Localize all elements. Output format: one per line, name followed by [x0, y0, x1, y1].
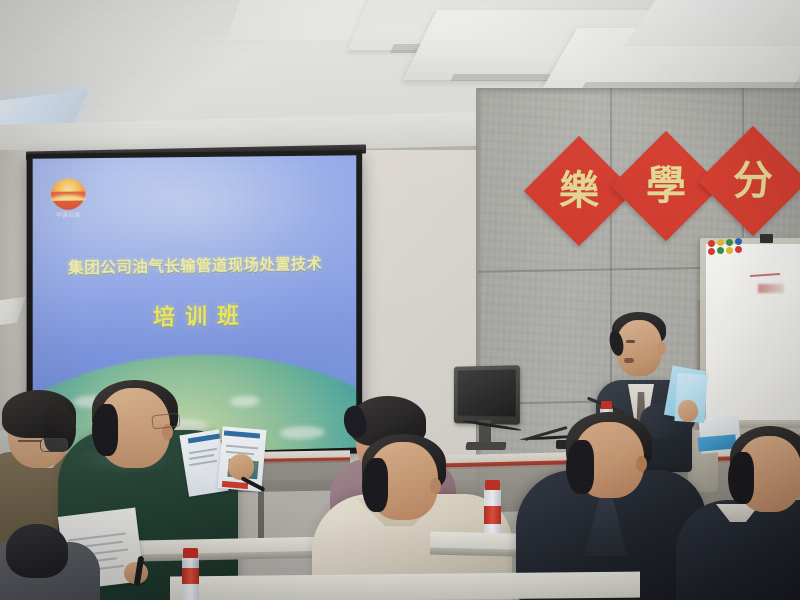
attendee-hair-side: [728, 452, 754, 504]
monitor-stand-base: [465, 442, 506, 450]
whiteboard-magnet: [726, 247, 733, 254]
whiteboard-magnet: [717, 247, 724, 254]
banner-character: 分: [714, 142, 792, 220]
wall-banner-diamond: 分: [698, 126, 800, 236]
water-bottle: [182, 556, 199, 600]
attendee-hand: [228, 454, 254, 480]
whiteboard-clip: [760, 234, 773, 243]
projected-slide: 中国石油 集团公司油气长输管道现场处置技术 培训班: [33, 155, 357, 456]
projection-screen: 中国石油 集团公司油气长输管道现场处置技术 培训班: [27, 150, 363, 462]
attendee-head: [6, 524, 68, 578]
screen-sheen: [33, 155, 357, 456]
whiteboard-magnet: [735, 246, 742, 253]
lcd-monitor: [454, 365, 520, 425]
desk-leg: [258, 486, 264, 538]
water-bottle: [484, 488, 501, 536]
attendee-hair-side: [362, 458, 388, 512]
banner-character: 學: [627, 147, 705, 225]
bottle-cap: [485, 480, 500, 490]
whiteboard-magnet: [726, 239, 733, 246]
whiteboard-magnet: [708, 240, 715, 247]
banner-character: 樂: [540, 152, 618, 230]
classroom-desk-foreground: [170, 572, 640, 600]
bottle-label: [484, 506, 501, 524]
eyeglasses-temple-icon: [18, 440, 42, 442]
bottle-label: [182, 568, 199, 584]
eyeglasses-icon: [151, 413, 180, 430]
attendee-ear: [430, 478, 441, 494]
whiteboard-magnet: [717, 239, 724, 246]
attendee-hair-side: [566, 440, 594, 494]
whiteboard-surface: [706, 244, 800, 420]
attendee-ear: [636, 456, 647, 472]
presenter-ear: [657, 342, 666, 355]
classroom-photo: 樂 學 分: [0, 0, 800, 600]
bottle-cap: [183, 548, 198, 558]
attendee-hair-side: [92, 404, 118, 456]
eyeglasses-icon: [40, 438, 68, 452]
presenter-eye: [626, 340, 635, 343]
bottle-cap: [601, 401, 612, 409]
stone-wall-top-edge: [478, 88, 800, 95]
whiteboard-magnet: [735, 238, 742, 245]
whiteboard-handwriting: [758, 284, 784, 293]
whiteboard-magnet: [708, 248, 715, 255]
presenter-mouth: [624, 358, 634, 363]
ceiling-panel: [624, 0, 800, 46]
whiteboard: [700, 238, 800, 434]
monitor-screen: [458, 369, 516, 416]
